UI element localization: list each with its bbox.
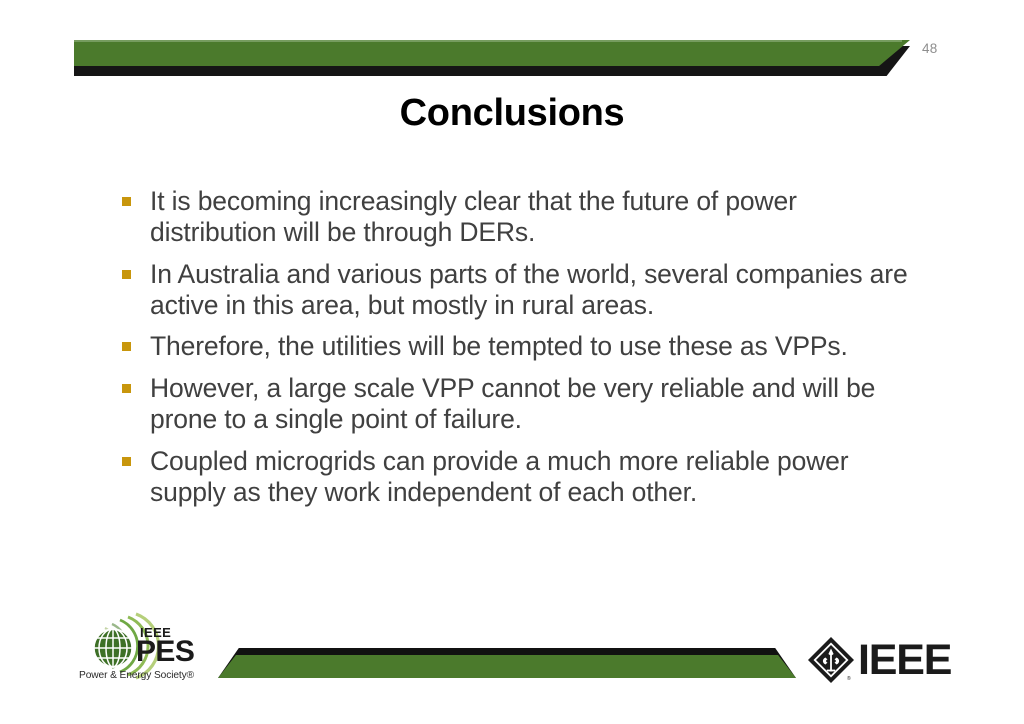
bottom-decorative-bar xyxy=(218,648,796,680)
square-bullet-icon xyxy=(122,197,131,206)
ieee-wordmark: IEEE xyxy=(858,639,951,682)
page-title: Conclusions xyxy=(0,92,1024,135)
square-bullet-icon xyxy=(122,384,131,393)
pes-tagline: Power & Energy Society® xyxy=(79,670,194,681)
top-bar-green xyxy=(74,40,910,66)
list-item: However, a large scale VPP cannot be ver… xyxy=(122,373,912,435)
list-item-text: It is becoming increasingly clear that t… xyxy=(150,186,912,248)
list-item-text: Therefore, the utilities will be tempted… xyxy=(150,331,912,362)
square-bullet-icon xyxy=(122,270,131,279)
ieee-diamond-icon: ® xyxy=(806,635,856,685)
ieee-logo: ® IEEE xyxy=(806,634,956,686)
ieee-pes-logo: IEEE PES Power & Energy Society® xyxy=(76,608,216,690)
slide-canvas: 48 Conclusions It is becoming increasing… xyxy=(0,0,1024,724)
square-bullet-icon xyxy=(122,457,131,466)
top-decorative-bar xyxy=(74,40,910,74)
list-item: Coupled microgrids can provide a much mo… xyxy=(122,446,912,508)
svg-text:®: ® xyxy=(847,675,851,682)
list-item: It is becoming increasingly clear that t… xyxy=(122,186,912,248)
top-bar-highlight xyxy=(74,40,902,42)
list-item-text: Coupled microgrids can provide a much mo… xyxy=(150,446,912,508)
square-bullet-icon xyxy=(122,342,131,351)
bottom-bar-green xyxy=(218,655,796,678)
list-item-text: However, a large scale VPP cannot be ver… xyxy=(150,373,912,435)
slide-number: 48 xyxy=(922,41,937,56)
list-item: Therefore, the utilities will be tempted… xyxy=(122,331,912,362)
list-item-text: In Australia and various parts of the wo… xyxy=(150,259,912,321)
list-item: In Australia and various parts of the wo… xyxy=(122,259,912,321)
bullet-list: It is becoming increasingly clear that t… xyxy=(122,186,912,519)
pes-wordmark: PES xyxy=(136,635,194,669)
